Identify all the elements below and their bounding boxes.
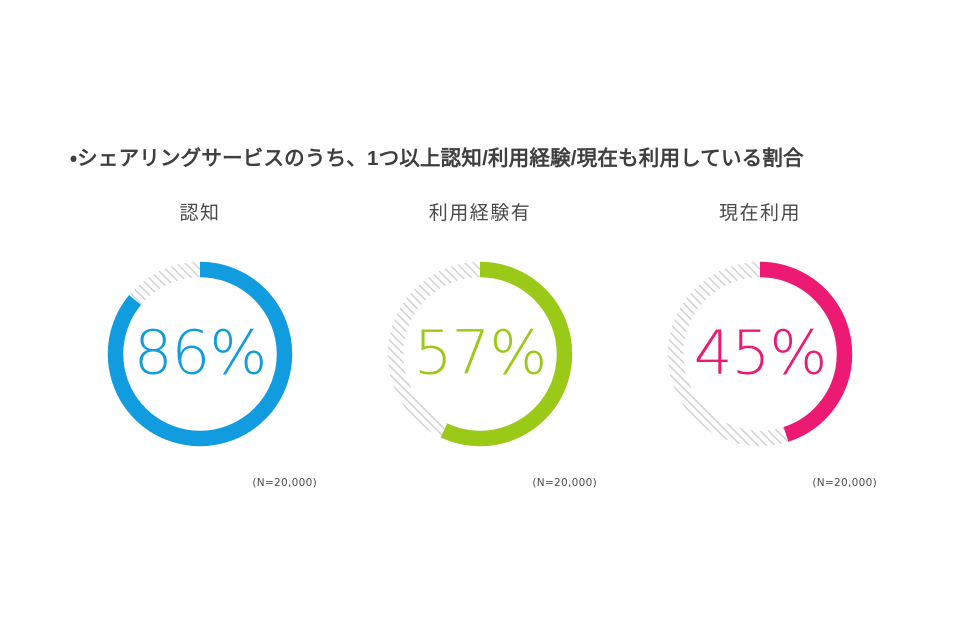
donut-value-awareness: 86% (89, 322, 311, 383)
donut-value-current-use: 45% (649, 322, 871, 383)
donut-value-used-before: 57% (369, 322, 591, 383)
slide-canvas: ・シェアリングサービスのうち、1つ以上認知/利用経験/現在も利用している割合 認… (0, 0, 960, 619)
donut-chart-row: 認知 86% (N=20,000) 利用経験有 (0, 198, 960, 465)
donut-chart-used-before: 利用経験有 57% (N=20,000) (340, 198, 620, 465)
donut-chart-awareness: 認知 86% (N=20,000) (60, 198, 340, 465)
donut-label-current-use: 現在利用 (719, 198, 801, 225)
donut-ring-current-use: 45% (N=20,000) (649, 243, 871, 465)
sample-size-note-current-use: (N=20,000) (812, 477, 877, 489)
donut-chart-current-use: 現在利用 45% (N=20,000) (620, 198, 900, 465)
page-title: ・シェアリングサービスのうち、1つ以上認知/利用経験/現在も利用している割合 (70, 146, 804, 172)
donut-label-awareness: 認知 (179, 198, 220, 225)
sample-size-note-used-before: (N=20,000) (532, 477, 597, 489)
donut-label-used-before: 利用経験有 (429, 198, 532, 225)
donut-ring-awareness: 86% (N=20,000) (89, 243, 311, 465)
sample-size-note-awareness: (N=20,000) (252, 477, 317, 489)
donut-ring-used-before: 57% (N=20,000) (369, 243, 591, 465)
